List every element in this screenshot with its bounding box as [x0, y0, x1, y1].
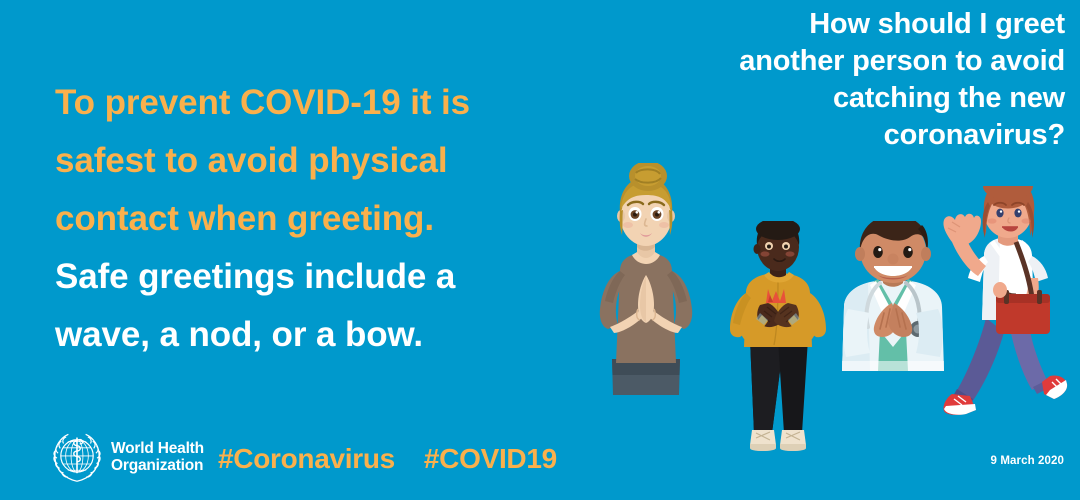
- figure-doctor-hands-together: [834, 221, 952, 379]
- who-wordmark-line-2: Organization: [111, 457, 204, 474]
- figure-woman-namaste: [576, 163, 716, 403]
- headline-question: How should I greet another person to avo…: [585, 6, 1065, 154]
- person-hand-on-heart-illustration: [722, 221, 834, 457]
- headline-line-3: catching the new: [585, 80, 1065, 117]
- woman-namaste-illustration: [576, 163, 716, 403]
- advice-line-3: contact when greeting.: [55, 190, 575, 248]
- advice-line-4: Safe greetings include a: [55, 248, 575, 306]
- headline-line-1: How should I greet: [585, 6, 1065, 43]
- headline-line-2: another person to avoid: [585, 43, 1065, 80]
- who-logo: World Health Organization: [50, 430, 204, 484]
- figure-woman-waving: [938, 186, 1072, 424]
- advice-line-2: safest to avoid physical: [55, 132, 575, 190]
- who-wordmark: World Health Organization: [111, 440, 204, 474]
- advice-line-5: wave, a nod, or a bow.: [55, 306, 575, 364]
- hashtag-group: #Coronavirus #COVID19: [218, 443, 557, 475]
- headline-line-4: coronavirus?: [585, 117, 1065, 154]
- advice-line-1: To prevent COVID-19 it is: [55, 74, 575, 132]
- figure-person-hand-on-heart: [722, 221, 834, 457]
- hashtag-covid19[interactable]: #COVID19: [424, 443, 557, 475]
- who-emblem-icon: [50, 430, 104, 484]
- doctor-illustration: [834, 221, 952, 379]
- publication-date: 9 March 2020: [991, 455, 1064, 467]
- who-wordmark-line-1: World Health: [111, 440, 204, 457]
- who-covid-infographic: How should I greet another person to avo…: [0, 0, 1080, 500]
- woman-waving-illustration: [938, 186, 1072, 424]
- advice-message: To prevent COVID-19 it is safest to avoi…: [55, 74, 575, 364]
- hashtag-coronavirus[interactable]: #Coronavirus: [218, 443, 395, 475]
